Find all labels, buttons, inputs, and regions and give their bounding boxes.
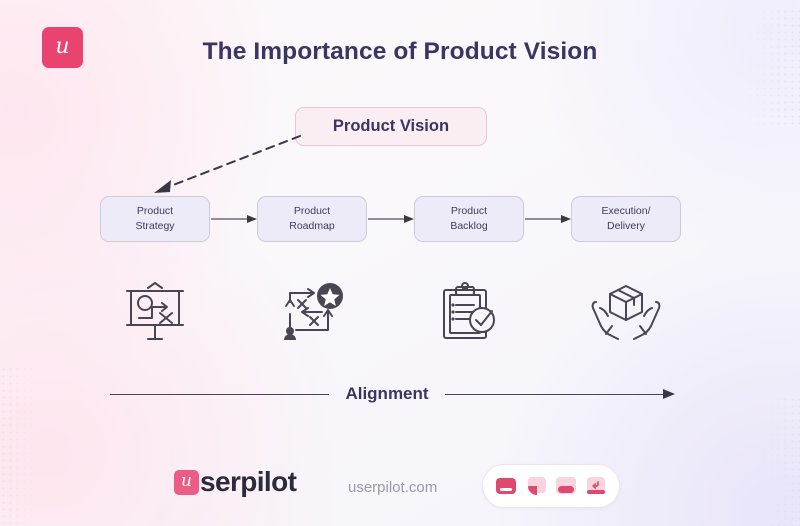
flow-step-line2: Delivery bbox=[607, 220, 645, 232]
footer-domain-label: userpilot.com bbox=[348, 479, 437, 496]
flow-arrow-icon bbox=[211, 212, 258, 226]
flow-step-box-product-backlog[interactable]: Product Backlog bbox=[414, 196, 524, 242]
alignment-arrow-right bbox=[445, 388, 675, 400]
product-vision-label: Product Vision bbox=[333, 117, 449, 136]
footer-logo[interactable]: u serpilot bbox=[174, 468, 296, 496]
product-vision-box: Product Vision bbox=[295, 107, 487, 146]
alignment-label: Alignment bbox=[329, 384, 444, 404]
checklist-pattern-icon bbox=[584, 474, 608, 498]
flow-arrow-icon bbox=[368, 212, 415, 226]
flow-step-line1: Execution/ bbox=[601, 205, 650, 217]
roadmap-star-icon bbox=[257, 278, 367, 348]
arrow-head-icon bbox=[663, 388, 675, 400]
hands-package-icon bbox=[571, 278, 681, 348]
modal-pattern-icon bbox=[494, 474, 518, 498]
dot-pattern-bottom-left bbox=[0, 366, 40, 526]
dot-pattern-top-right bbox=[740, 8, 800, 128]
alignment-line-left bbox=[110, 394, 329, 395]
flow-step-line1: Product bbox=[294, 205, 330, 217]
slideout-pattern-icon bbox=[554, 474, 578, 498]
alignment-line-right bbox=[445, 394, 664, 395]
flow-step-box-product-roadmap[interactable]: Product Roadmap bbox=[257, 196, 367, 242]
footer-logo-u-glyph: u bbox=[181, 473, 192, 492]
footer-logo-text: serpilot bbox=[200, 468, 296, 496]
alignment-row: Alignment bbox=[110, 380, 675, 408]
flow-step-line1: Product bbox=[451, 205, 487, 217]
flow-step-line2: Strategy bbox=[135, 220, 174, 232]
flow-step-line1: Product bbox=[137, 205, 173, 217]
flow-step-box-execution-delivery[interactable]: Execution/ Delivery bbox=[571, 196, 681, 242]
page-title: The Importance of Product Vision bbox=[0, 38, 800, 66]
dot-pattern-bottom-right bbox=[754, 396, 800, 526]
strategy-board-icon bbox=[100, 278, 210, 348]
flow-step-line2: Backlog bbox=[450, 220, 487, 232]
flow-arrow-icon bbox=[525, 212, 572, 226]
footer-logo-badge: u bbox=[174, 470, 199, 495]
ui-pattern-showcase bbox=[482, 464, 620, 508]
flow-step-box-product-strategy[interactable]: Product Strategy bbox=[100, 196, 210, 242]
flow-step-line2: Roadmap bbox=[289, 220, 335, 232]
clipboard-check-icon bbox=[414, 278, 524, 348]
dashed-arrow-icon bbox=[140, 130, 310, 200]
infographic-canvas: u The Importance of Product Vision Produ… bbox=[0, 0, 800, 526]
tooltip-pattern-icon bbox=[524, 474, 548, 498]
